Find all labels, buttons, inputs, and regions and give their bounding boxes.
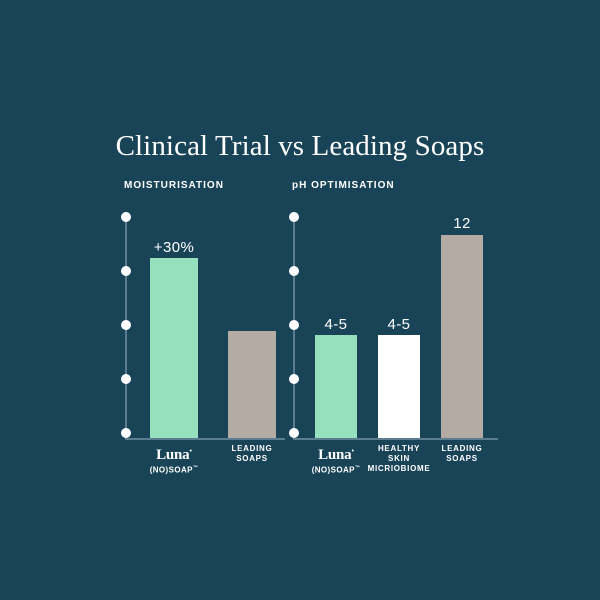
luna-mark-icon: • — [189, 447, 191, 455]
bar-luna — [150, 258, 198, 438]
luna-mark-icon: • — [351, 447, 353, 455]
x-label-healthy-skin-micriobiome: HEALTHY SKIN MICRIOBIOME — [364, 444, 434, 474]
bar-group-leading-soaps: 12 — [441, 212, 483, 438]
bars-moisturisation: +30% — [136, 212, 285, 438]
x-label-luna: Luna• (NO)SOAP™ — [140, 444, 208, 476]
bar-value-luna: +30% — [136, 239, 212, 256]
x-labels-ph-optimisation: Luna• (NO)SOAP™ HEALTHY SKIN MICRIOBIOME… — [304, 442, 498, 500]
bar-group-leading-soaps — [228, 212, 276, 438]
x-label-leading-soaps: LEADING SOAPS — [218, 444, 286, 464]
axis-tick-dot — [121, 320, 131, 330]
axis-tick-dot — [121, 428, 131, 438]
page-title: Clinical Trial vs Leading Soaps — [0, 130, 600, 163]
axis-tick-dot — [289, 374, 299, 384]
y-axis-ph-optimisation — [293, 212, 295, 440]
axis-tick-dot — [289, 428, 299, 438]
chart-panel-moisturisation: MOISTURISATION +30% — [120, 180, 285, 500]
bar-group-luna: +30% — [150, 212, 198, 438]
x-label-leading-soaps: LEADING SOAPS — [431, 444, 493, 464]
axis-tick-dot — [121, 374, 131, 384]
luna-wordmark: Luna• — [140, 444, 208, 463]
bar-value-leading-soaps: 12 — [427, 215, 497, 232]
axis-tick-dot — [121, 212, 131, 222]
bar-group-luna: 4-5 — [315, 212, 357, 438]
bars-ph-optimisation: 4-5 4-5 12 — [304, 212, 498, 438]
plot-area-ph-optimisation: 4-5 4-5 12 — [288, 212, 498, 440]
chart-title-moisturisation: MOISTURISATION — [124, 180, 224, 191]
x-labels-moisturisation: Luna• (NO)SOAP™ LEADING SOAPS — [136, 442, 285, 500]
chart-title-ph-optimisation: pH OPTIMISATION — [292, 180, 395, 191]
trademark-icon: ™ — [355, 465, 360, 471]
bar-leading-soaps — [441, 235, 483, 438]
bar-luna — [315, 335, 357, 438]
luna-sub-wordmark: (NO)SOAP™ — [302, 463, 370, 476]
y-axis-moisturisation — [125, 212, 127, 440]
bar-leading-soaps — [228, 331, 276, 438]
x-axis-baseline — [125, 438, 285, 440]
axis-tick-dot — [121, 266, 131, 276]
infographic-root: Clinical Trial vs Leading Soaps MOISTURI… — [0, 0, 600, 600]
bar-healthy-skin-micriobiome — [378, 335, 420, 438]
bar-group-healthy-skin-micriobiome: 4-5 — [378, 212, 420, 438]
bar-value-healthy-skin-micriobiome: 4-5 — [364, 316, 434, 333]
bar-value-luna: 4-5 — [301, 316, 371, 333]
luna-sub-wordmark: (NO)SOAP™ — [140, 463, 208, 476]
x-axis-baseline — [293, 438, 498, 440]
x-label-luna: Luna• (NO)SOAP™ — [302, 444, 370, 476]
luna-wordmark: Luna• — [302, 444, 370, 463]
charts-container: MOISTURISATION +30% — [0, 180, 600, 500]
axis-tick-dot — [289, 266, 299, 276]
axis-tick-dot — [289, 212, 299, 222]
trademark-icon: ™ — [193, 465, 198, 471]
axis-tick-dot — [289, 320, 299, 330]
chart-panel-ph-optimisation: pH OPTIMISATION 4-5 — [288, 180, 498, 500]
plot-area-moisturisation: +30% — [120, 212, 285, 440]
